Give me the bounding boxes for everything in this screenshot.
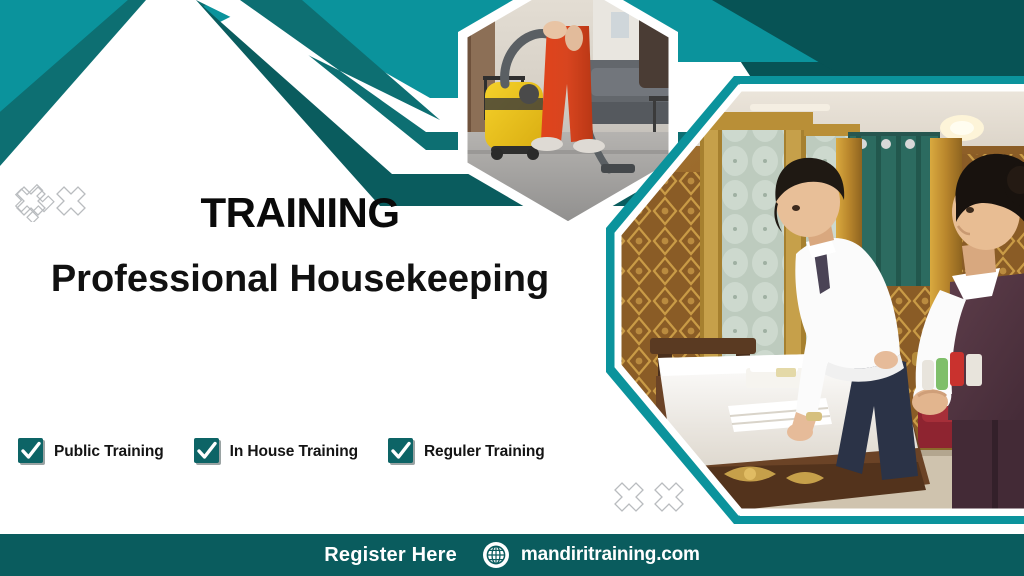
promo-banner: TRAINING Professional Housekeeping Publi… [0, 0, 1024, 576]
globe-icon [483, 542, 509, 568]
checkbox-checked-icon[interactable] [18, 438, 45, 465]
page-title: TRAINING [0, 190, 600, 236]
training-options-row: Public Training In House Training Regule… [18, 438, 545, 465]
option-reguler-training[interactable]: Reguler Training [388, 438, 545, 465]
option-public-training[interactable]: Public Training [18, 438, 164, 465]
checkbox-checked-icon[interactable] [388, 438, 415, 465]
housekeeping-bed-making-photo [600, 76, 1024, 524]
checkbox-checked-icon[interactable] [194, 438, 221, 465]
option-label: Public Training [54, 443, 164, 461]
headline-block: TRAINING Professional Housekeeping [0, 190, 600, 302]
option-label: Reguler Training [424, 443, 545, 461]
option-in-house-training[interactable]: In House Training [194, 438, 358, 465]
register-here-label[interactable]: Register Here [324, 544, 457, 567]
option-label: In House Training [230, 443, 358, 461]
website-group[interactable]: mandiritraining.com [483, 542, 700, 568]
footer-bar: Register Here mandiritraining.com [0, 534, 1024, 576]
website-url[interactable]: mandiritraining.com [521, 544, 700, 566]
page-subtitle: Professional Housekeeping [0, 258, 600, 302]
cross-cluster-bottom [612, 476, 688, 518]
